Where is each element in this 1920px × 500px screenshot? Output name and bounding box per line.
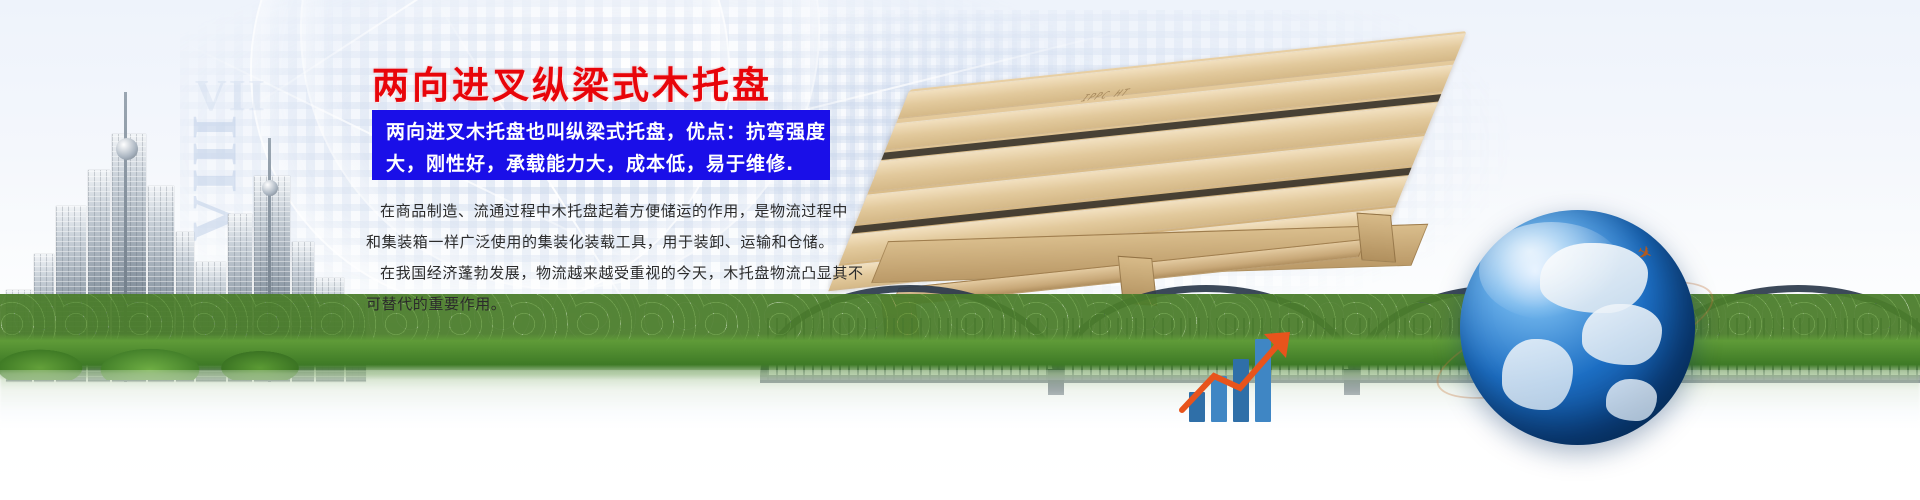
description-line-3: 在我国经济蓬勃发展，物流越来越受重视的今天，木托盘物流凸显其不: [366, 258, 866, 289]
highlight-callout: 两向进叉木托盘也叫纵梁式托盘，优点：抗弯强度 大，刚性好，承载能力大，成本低，易…: [372, 110, 830, 180]
description-paragraph: 在商品制造、流通过程中木托盘起着方便储运的作用，是物流过程中 和集装箱一样广泛使…: [366, 196, 866, 320]
trend-arrow-icon: [1178, 326, 1308, 418]
description-line-1: 在商品制造、流通过程中木托盘起着方便储运的作用，是物流过程中: [366, 196, 866, 227]
description-line-4: 可替代的重要作用。: [366, 289, 866, 320]
product-banner: VIII VII IX X: [0, 0, 1920, 500]
highlight-line-2: 大，刚性好，承载能力大，成本低，易于维修.: [386, 148, 818, 180]
description-line-2: 和集装箱一样广泛使用的集装化装载工具，用于装卸、运输和仓储。: [366, 227, 866, 258]
highlight-line-1: 两向进叉木托盘也叫纵梁式托盘，优点：抗弯强度: [386, 116, 818, 148]
page-title: 两向进叉纵梁式木托盘: [372, 55, 772, 109]
earth-globe-graphic: [1460, 210, 1695, 445]
